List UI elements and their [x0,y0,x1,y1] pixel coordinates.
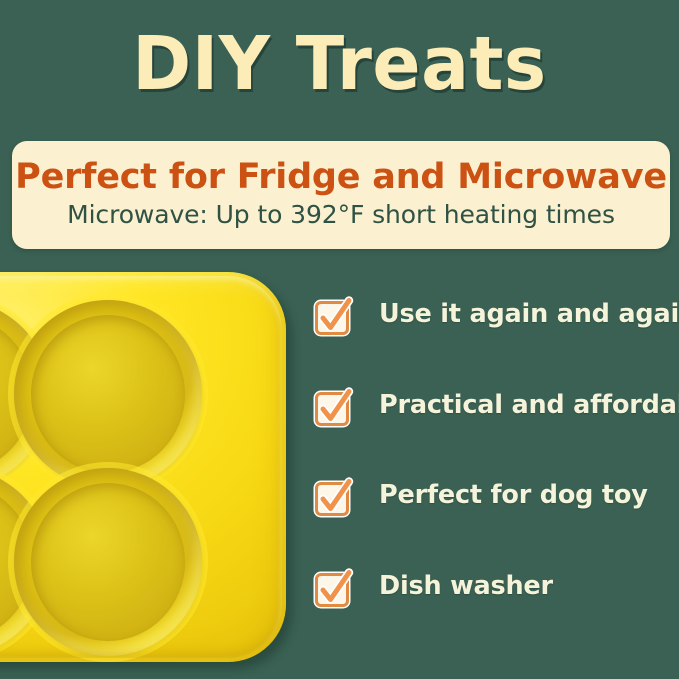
feature-item: Practical and affordable [313,387,673,478]
feature-label: Dish washer [379,574,553,600]
checkbox-checked-icon [313,477,355,519]
feature-list: Use it again and again Practical and aff… [313,296,673,658]
checkbox-checked-icon [313,568,355,610]
banner-headline: Perfect for Fridge and Microwave [15,158,667,197]
mold-well [14,300,202,488]
feature-item: Perfect for dog toy [313,477,673,568]
checkbox-checked-icon [313,387,355,429]
banner-subtext: Microwave: Up to 392°F short heating tim… [67,201,615,230]
feature-label: Perfect for dog toy [379,483,648,509]
feature-label: Practical and affordable [379,393,679,419]
feature-item: Dish washer [313,568,673,659]
product-image-silicone-mold-tray [0,272,286,662]
feature-label: Use it again and again [379,302,679,328]
highlight-banner: Perfect for Fridge and Microwave Microwa… [12,141,670,249]
feature-item: Use it again and again [313,296,673,387]
mold-well [14,468,202,656]
checkbox-checked-icon [313,296,355,338]
product-feature-graphic: DIY Treats Perfect for Fridge and Microw… [0,0,679,679]
page-title: DIY Treats [14,26,666,104]
